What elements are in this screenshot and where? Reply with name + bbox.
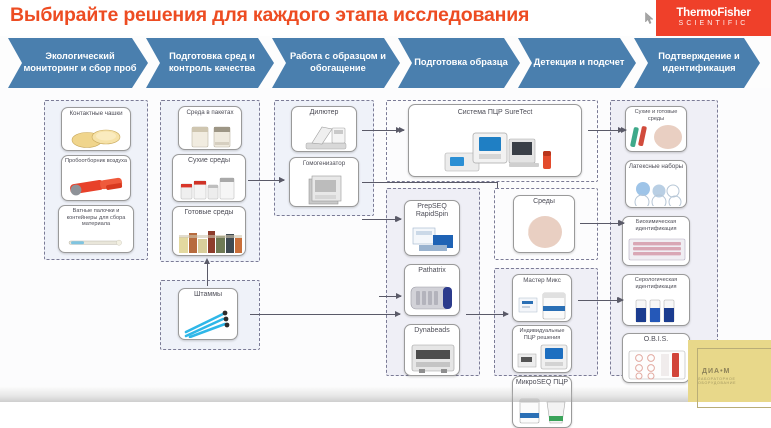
arrow-into-col6-sero bbox=[605, 300, 623, 301]
card-label: Pathatrix bbox=[405, 267, 459, 275]
media-bags-icon bbox=[179, 124, 242, 148]
latex-kit-icon bbox=[626, 180, 687, 206]
card-obis[interactable]: O.B.I.S. bbox=[622, 333, 690, 383]
bottom-fade bbox=[0, 386, 771, 402]
card-air-sampler[interactable]: Пробоотборник воздуха bbox=[61, 155, 131, 201]
stage-label: Работа с образцом и обогащение bbox=[285, 51, 391, 74]
card-label: Среда в пакетах bbox=[179, 109, 241, 116]
card-label: Дилютер bbox=[292, 109, 356, 117]
page-title: Выбирайте решения для каждого этапа иссл… bbox=[10, 4, 650, 27]
petri-dish-icon bbox=[62, 125, 131, 149]
dynabeads-icon bbox=[405, 341, 460, 374]
arrow-into-prepseq bbox=[379, 219, 401, 220]
stage-label: Детекция и подсчет bbox=[534, 57, 625, 69]
stage-chevron-5[interactable]: Детекция и подсчет bbox=[518, 38, 636, 88]
brand-tagline: SCIENTIFIC bbox=[656, 20, 771, 27]
dry-media-icon bbox=[173, 172, 246, 200]
card-label: Пробоотборник воздуха bbox=[62, 158, 130, 165]
card-dynabeads[interactable]: Dynabeads bbox=[404, 324, 460, 376]
master-mix-icon bbox=[513, 290, 572, 320]
media-plate-icon bbox=[514, 213, 575, 251]
card-label: Биохимическая идентификация bbox=[623, 219, 689, 232]
strains-icon bbox=[179, 306, 238, 338]
card-biochem-identification[interactable]: Биохимическая идентификация bbox=[622, 216, 690, 266]
card-label: Гомогенизатор bbox=[290, 160, 358, 167]
process-stage-band: Экологический мониторинг и сбор проб Под… bbox=[0, 38, 771, 88]
card-latex-kits[interactable]: Латексные наборы bbox=[625, 160, 687, 208]
sero-id-icon bbox=[623, 298, 690, 324]
arrow-strains-to-media bbox=[207, 264, 208, 286]
card-media-in-bags[interactable]: Среда в пакетах bbox=[178, 106, 242, 150]
card-pathatrix[interactable]: Pathatrix bbox=[404, 264, 460, 316]
line-homogenizer-right bbox=[362, 182, 498, 183]
card-label: Система ПЦР SureTect bbox=[409, 109, 581, 117]
stage-label: Подтверждение и идентификация bbox=[647, 51, 751, 74]
card-contact-plates[interactable]: Контактные чашки bbox=[61, 107, 131, 151]
mouse-cursor-icon bbox=[645, 12, 655, 25]
air-sampler-icon bbox=[62, 171, 131, 199]
card-label: Штаммы bbox=[179, 291, 237, 299]
pcr-system-icon bbox=[409, 125, 582, 175]
card-dry-media[interactable]: Сухие среды bbox=[172, 154, 246, 202]
ready-media-icon bbox=[173, 224, 246, 254]
card-serological-identification[interactable]: Серологическая идентификация bbox=[622, 274, 690, 326]
card-label: O.B.I.S. bbox=[623, 336, 689, 344]
arrow-into-col3 bbox=[266, 180, 284, 181]
card-diluter[interactable]: Дилютер bbox=[291, 106, 357, 152]
arrow-into-col6-latex bbox=[605, 223, 623, 224]
stage-label: Экологический мониторинг и сбор проб bbox=[21, 51, 139, 74]
arrow-strains-to-prep bbox=[250, 314, 400, 315]
watermark-text: ДИА•М bbox=[702, 368, 730, 375]
thermofisher-logo: ThermoFisher SCIENTIFIC bbox=[656, 0, 771, 36]
custom-pcr-icon bbox=[513, 343, 572, 371]
card-label: Готовые среды bbox=[173, 209, 245, 217]
card-label: Контактные чашки bbox=[62, 110, 130, 117]
stage-chevron-6[interactable]: Подтверждение и идентификация bbox=[634, 38, 760, 88]
diluter-icon bbox=[292, 123, 357, 150]
workflow-diagram: Контактные чашки Пробоотборник воздуха В… bbox=[0, 88, 771, 386]
card-homogenizer[interactable]: Гомогенизатор bbox=[289, 157, 359, 207]
card-label: Среды bbox=[514, 198, 574, 206]
card-microseq-pcr[interactable]: МикроSEQ ПЦР bbox=[512, 376, 572, 428]
card-label: PrepSEQ RapidSpin bbox=[405, 203, 459, 220]
media-mix-icon bbox=[626, 123, 687, 150]
stage-label: Подготовка сред и контроль качества bbox=[159, 51, 265, 74]
card-swabs-containers[interactable]: Ватные палочки и контейнеры для сбора ма… bbox=[58, 205, 134, 253]
card-label: Серологическая идентификация bbox=[623, 277, 689, 290]
arrow-into-pcr bbox=[379, 130, 401, 131]
diam-watermark: ДИА•М ЛАБОРАТОРНОЕ ОБОРУДОВАНИЕ bbox=[688, 340, 771, 402]
card-prepseq-rapidspin[interactable]: PrepSEQ RapidSpin bbox=[404, 200, 460, 256]
card-label: Сухие среды bbox=[173, 157, 245, 165]
card-master-mix[interactable]: Мастер Микс bbox=[512, 274, 572, 322]
prepseq-icon bbox=[405, 224, 460, 254]
obis-icon bbox=[623, 349, 690, 381]
homogenizer-icon bbox=[290, 174, 359, 205]
stage-chevron-4[interactable]: Подготовка образца bbox=[398, 38, 520, 88]
arrow-prep-to-detection bbox=[466, 314, 508, 315]
stage-chevron-2[interactable]: Подготовка сред и контроль качества bbox=[146, 38, 274, 88]
card-label: Dynabeads bbox=[405, 327, 459, 335]
watermark-subtext: ЛАБОРАТОРНОЕ ОБОРУДОВАНИЕ bbox=[698, 377, 771, 385]
card-strains[interactable]: Штаммы bbox=[178, 288, 238, 340]
card-dry-ready-media[interactable]: Сухие и готовые среды bbox=[625, 106, 687, 152]
pathatrix-icon bbox=[405, 281, 460, 314]
card-custom-pcr[interactable]: Индивидуальные ПЦР решения bbox=[512, 325, 572, 373]
card-label: Индивидуальные ПЦР решения bbox=[513, 328, 571, 341]
swab-icon bbox=[59, 235, 134, 250]
stage-chevron-1[interactable]: Экологический мониторинг и сбор проб bbox=[8, 38, 148, 88]
card-ready-media[interactable]: Готовые среды bbox=[172, 206, 246, 256]
biochem-id-icon bbox=[623, 236, 690, 264]
card-label: Ватные палочки и контейнеры для сбора ма… bbox=[59, 208, 133, 228]
brand-name: ThermoFisher bbox=[656, 7, 771, 19]
card-pcr-suretect[interactable]: Система ПЦР SureTect bbox=[408, 104, 582, 177]
title-bar: Выбирайте решения для каждого этапа иссл… bbox=[0, 0, 771, 36]
line-homogenizer-down bbox=[497, 182, 498, 188]
arrow-into-pathatrix bbox=[379, 296, 401, 297]
card-label: Сухие и готовые среды bbox=[626, 109, 686, 122]
slide-canvas: Выбирайте решения для каждого этапа иссл… bbox=[0, 0, 771, 402]
card-media[interactable]: Среды bbox=[513, 195, 575, 253]
card-label: Мастер Микс bbox=[513, 277, 571, 284]
stage-label: Подготовка образца bbox=[414, 57, 508, 69]
stage-chevron-3[interactable]: Работа с образцом и обогащение bbox=[272, 38, 400, 88]
card-label: Латексные наборы bbox=[626, 163, 686, 170]
arrow-into-col6-top bbox=[605, 130, 623, 131]
